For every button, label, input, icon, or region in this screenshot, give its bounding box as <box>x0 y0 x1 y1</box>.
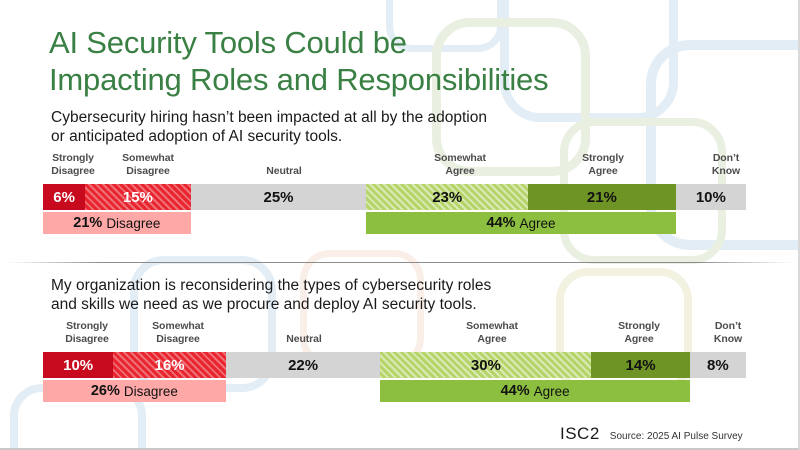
page-title: AI Security Tools Could be Impacting Rol… <box>49 24 689 98</box>
section-divider <box>8 262 792 263</box>
chart-2-summary-disagree-label: Disagree <box>124 384 178 399</box>
chart-2-label-strongly-agree: Strongly Agree <box>595 320 683 345</box>
chart-1-question-line-2: or anticipated adoption of AI security t… <box>51 127 701 146</box>
slide-canvas: AI Security Tools Could be Impacting Rol… <box>0 0 800 450</box>
chart-1-segment-neutral: 25% <box>191 184 367 210</box>
chart-2-question: My organization is reconsidering the typ… <box>51 276 701 314</box>
chart-1-label-strongly-disagree: Strongly Disagree <box>37 152 109 177</box>
chart-1-summary-agree-value: 44% <box>487 215 516 231</box>
chart-2-segment-somewhat-disagree: 16% <box>113 352 225 378</box>
chart-1-label-neutral: Neutral <box>239 165 329 178</box>
chart-2-summary-disagree: 26% Disagree <box>43 380 226 402</box>
page-title-line-1: AI Security Tools Could be <box>49 24 689 61</box>
chart-1-summary-disagree-label: Disagree <box>106 216 160 231</box>
chart-2-label-strongly-disagree: Strongly Disagree <box>51 320 123 345</box>
chart-1-category-labels: Strongly Disagree Somewhat Disagree Neut… <box>43 152 746 180</box>
chart-1-summary-agree: 44% Agree <box>366 212 675 234</box>
chart-2-summary-agree-label: Agree <box>534 384 570 399</box>
chart-2-segment-strongly-agree: 14% <box>591 352 689 378</box>
page-title-line-2: Impacting Roles and Responsibilities <box>49 61 689 98</box>
chart-2-label-neutral: Neutral <box>259 333 349 346</box>
chart-1-question-line-1: Cybersecurity hiring hasn’t been impacte… <box>51 108 701 127</box>
chart-1-segment-dont-know: 10% <box>676 184 746 210</box>
chart-2-segment-neutral: 22% <box>226 352 381 378</box>
chart-2-summary-agree: 44% Agree <box>380 380 689 402</box>
chart-1-summary-agree-label: Agree <box>520 216 556 231</box>
chart-2-summary-agree-value: 44% <box>501 383 530 399</box>
chart-2-label-somewhat-disagree: Somewhat Disagree <box>137 320 219 345</box>
chart-1-segment-strongly-agree: 21% <box>528 184 676 210</box>
chart-1-summary-bars: 21% Disagree 44% Agree <box>43 212 746 234</box>
chart-1-summary-disagree-value: 21% <box>73 215 102 231</box>
chart-1-label-somewhat-agree: Somewhat Agree <box>415 152 505 177</box>
chart-2-segment-dont-know: 8% <box>690 352 746 378</box>
chart-1-stacked-bar: 6% 15% 25% 23% 21% 10% <box>43 184 746 210</box>
chart-2-segment-strongly-disagree: 10% <box>43 352 113 378</box>
chart-1-label-strongly-agree: Strongly Agree <box>559 152 647 177</box>
footer: ISC2 Source: 2025 AI Pulse Survey <box>560 424 743 444</box>
chart-1-summary-disagree: 21% Disagree <box>43 212 191 234</box>
chart-2-stacked-bar: 10% 16% 22% 30% 14% 8% <box>43 352 746 378</box>
isc2-logo: ISC2 <box>560 424 600 444</box>
chart-2-question-line-1: My organization is reconsidering the typ… <box>51 276 701 295</box>
chart-1-segment-somewhat-agree: 23% <box>366 184 528 210</box>
chart-2-summary-disagree-value: 26% <box>91 383 120 399</box>
chart-2-category-labels: Strongly Disagree Somewhat Disagree Neut… <box>43 320 746 348</box>
chart-1-question: Cybersecurity hiring hasn’t been impacte… <box>51 108 701 146</box>
chart-1-segment-strongly-disagree: 6% <box>43 184 85 210</box>
chart-2-summary-bars: 26% Disagree 44% Agree <box>43 380 746 402</box>
chart-2-segment-somewhat-agree: 30% <box>380 352 591 378</box>
chart-2-question-line-2: and skills we need as we procure and dep… <box>51 295 701 314</box>
chart-2-label-dont-know: Don’t Know <box>693 320 763 345</box>
chart-1-segment-somewhat-disagree: 15% <box>85 184 190 210</box>
chart-1-label-dont-know: Don’t Know <box>691 152 761 177</box>
chart-2-label-somewhat-agree: Somewhat Agree <box>447 320 537 345</box>
source-note: Source: 2025 AI Pulse Survey <box>610 431 743 442</box>
chart-1-label-somewhat-disagree: Somewhat Disagree <box>107 152 189 177</box>
